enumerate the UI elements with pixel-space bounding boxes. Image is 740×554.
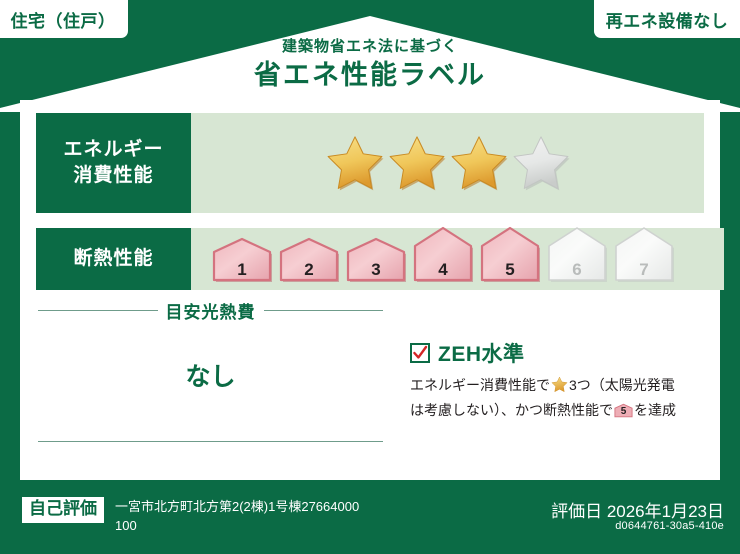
zeh-title-row: ZEH水準 <box>410 338 705 368</box>
house-icon <box>211 237 273 282</box>
house-icon <box>546 226 608 282</box>
house-level-5: 5 <box>479 226 541 287</box>
evaluation-date-value: 2026年1月23日 <box>607 502 724 521</box>
heading-rule-left <box>38 310 158 311</box>
heading-rule-right <box>264 310 384 311</box>
zeh-description: エネルギー消費性能で3つ（太陽光発電は考慮しない）、かつ断熱性能で5を達成 <box>410 375 705 424</box>
evaluation-id: d0644761-30a5-410e <box>615 520 724 532</box>
insulation-label: 断熱性能 <box>73 246 153 272</box>
evaluation-date-label: 評価日 <box>551 502 602 521</box>
house-icon <box>479 226 541 282</box>
house-icon <box>412 226 474 282</box>
zeh-desc-part3: を達成 <box>634 402 676 418</box>
insulation-performance-label-box: 断熱性能 <box>36 228 191 290</box>
self-evaluation-badge: 自己評価 <box>22 497 104 523</box>
footer: 自己評価 一宮市北方町北方第2(2棟)1号棟27664000 100 評価日 2… <box>0 490 740 554</box>
zeh-checkbox[interactable] <box>410 343 430 363</box>
zeh-section: ZEH水準 エネルギー消費性能で3つ（太陽光発電は考慮しない）、かつ断熱性能で5… <box>410 338 705 424</box>
house-level-3: 3 <box>345 237 407 287</box>
energy-label-line1: エネルギー <box>63 137 163 163</box>
zeh-desc-part2: は考慮しない）、かつ断熱性能で <box>410 402 613 418</box>
house-level-7: 7 <box>613 226 675 287</box>
property-address: 一宮市北方町北方第2(2棟)1号棟27664000 100 <box>115 498 545 536</box>
house-level-1: 1 <box>211 237 273 287</box>
house-level-4: 4 <box>412 226 474 287</box>
star-icon-filled <box>386 133 448 193</box>
header-titles: 建築物省エネ法に基づく 省エネ性能ラベル <box>0 38 740 93</box>
utility-cost-section: 目安光熱費 なし <box>38 298 383 442</box>
energy-performance-label-box: エネルギー 消費性能 <box>36 113 191 213</box>
star-icon-filled <box>448 133 510 193</box>
insulation-performance-row: 断熱性能 1234567 <box>36 228 724 290</box>
energy-performance-row: エネルギー 消費性能 <box>36 113 704 213</box>
house-icon <box>613 226 675 282</box>
energy-label-line2: 消費性能 <box>73 163 153 189</box>
house-level-2: 2 <box>278 237 340 287</box>
zeh-desc-star-count: 3つ（太陽光発電 <box>569 377 675 393</box>
zeh-desc-part1: エネルギー消費性能で <box>410 377 550 393</box>
energy-performance-label: 建築物省エネ法に基づく 省エネ性能ラベル 住宅（住戸） 再エネ設備なし エネルギ… <box>0 0 740 554</box>
energy-performance-value <box>191 113 704 213</box>
zeh-title: ZEH水準 <box>438 338 525 368</box>
house-rating-scale: 1234567 <box>211 231 675 287</box>
star-rating <box>324 133 572 193</box>
utility-cost-value: なし <box>38 357 383 393</box>
utility-cost-bottom-rule <box>38 441 383 442</box>
house-badge-icon: 5 <box>614 403 633 425</box>
insulation-performance-value: 1234567 <box>191 228 724 290</box>
header-subtitle: 建築物省エネ法に基づく <box>0 38 740 56</box>
star-icon <box>551 376 568 400</box>
utility-cost-heading: 目安光熱費 <box>166 298 256 323</box>
badge-building-type: 住宅（住戸） <box>0 0 128 38</box>
check-icon <box>412 345 428 361</box>
star-icon-filled <box>324 133 386 193</box>
house-icon <box>345 237 407 282</box>
page-title: 省エネ性能ラベル <box>0 58 740 93</box>
evaluation-date: 評価日 2026年1月23日 <box>551 497 724 522</box>
house-icon <box>278 237 340 282</box>
star-icon-empty <box>510 133 572 193</box>
label-card: エネルギー 消費性能 断熱性能 1234567 目安光熱費 なし <box>20 100 720 480</box>
utility-cost-heading-row: 目安光熱費 <box>38 298 383 323</box>
badge-renewable-equipment: 再エネ設備なし <box>594 0 740 38</box>
house-level-6: 6 <box>546 226 608 287</box>
